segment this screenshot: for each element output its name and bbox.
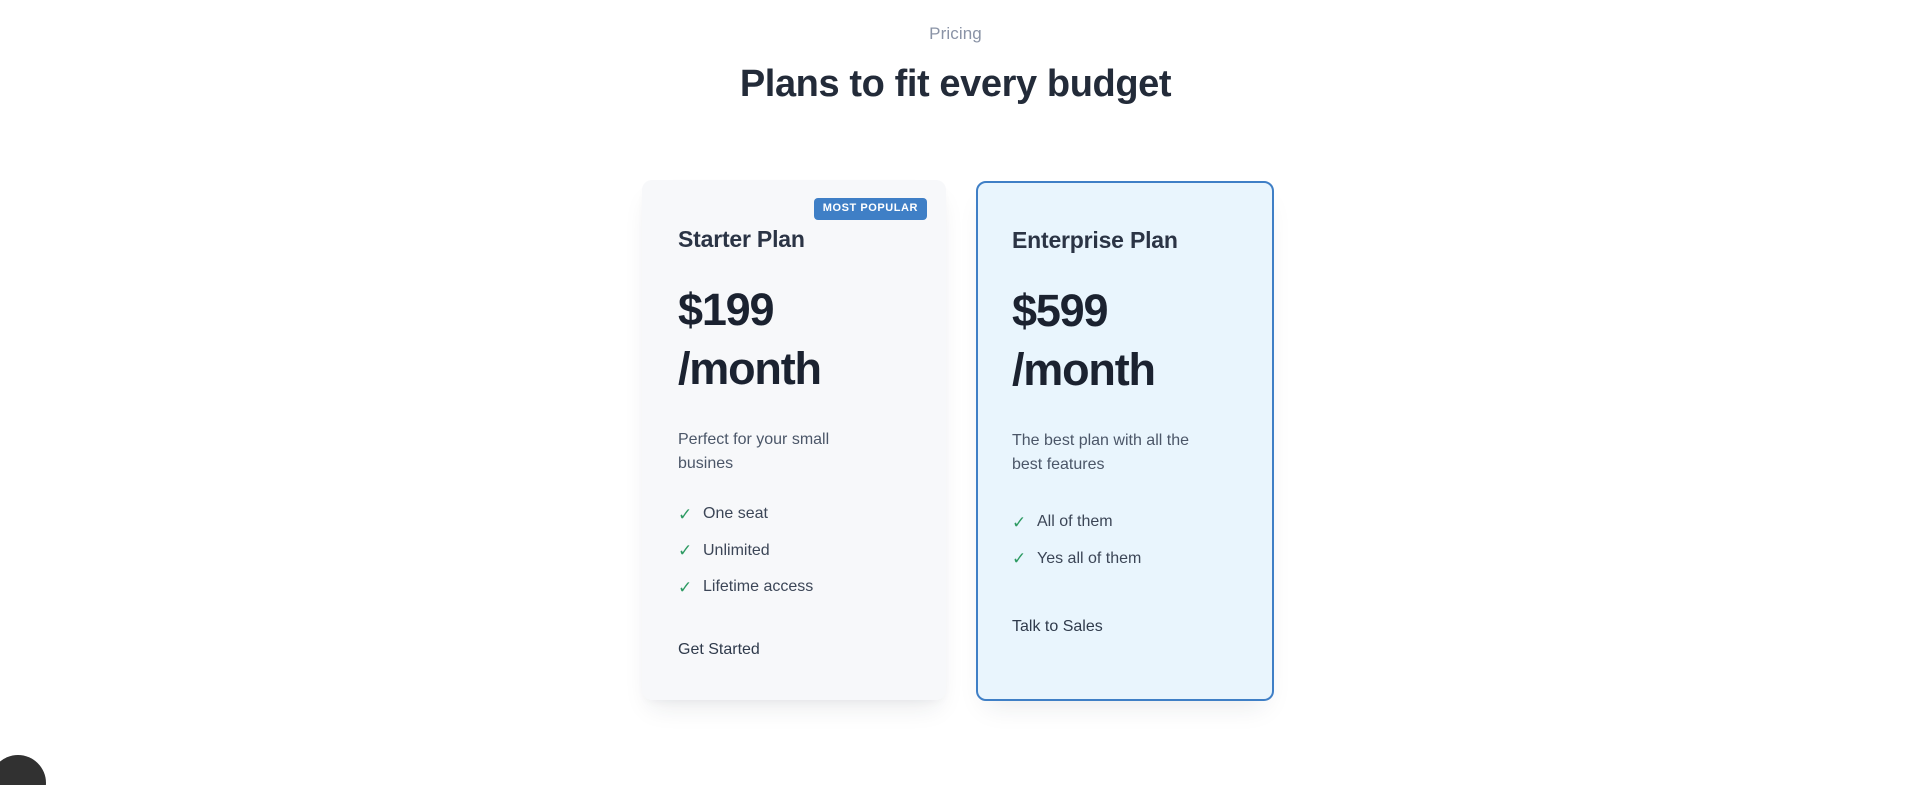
list-item: ✓ Unlimited xyxy=(678,540,910,562)
plan-description-starter: Perfect for your small busines xyxy=(678,428,878,476)
price-block-starter: $199 /month xyxy=(678,280,910,399)
feature-label: All of them xyxy=(1037,511,1113,533)
price-amount-enterprise: $599 xyxy=(1012,281,1238,340)
check-icon: ✓ xyxy=(1012,514,1026,531)
check-icon: ✓ xyxy=(678,542,692,559)
check-icon: ✓ xyxy=(678,506,692,523)
feature-label: Unlimited xyxy=(703,540,770,562)
check-icon: ✓ xyxy=(678,579,692,596)
plan-name-enterprise: Enterprise Plan xyxy=(1012,227,1238,255)
pricing-plans-row: MOST POPULAR Starter Plan $199 /month Pe… xyxy=(642,180,1274,701)
talk-to-sales-button[interactable]: Talk to Sales xyxy=(1012,616,1103,638)
list-item: ✓ One seat xyxy=(678,503,910,525)
feature-label: Yes all of them xyxy=(1037,548,1141,570)
feature-list-starter: ✓ One seat ✓ Unlimited ✓ Lifetime access xyxy=(678,503,910,598)
plan-name-starter: Starter Plan xyxy=(678,226,910,254)
plan-card-enterprise[interactable]: Enterprise Plan $599 /month The best pla… xyxy=(976,181,1274,701)
price-block-enterprise: $599 /month xyxy=(1012,281,1238,400)
price-period-enterprise: /month xyxy=(1012,340,1238,399)
check-icon: ✓ xyxy=(1012,550,1026,567)
get-started-button[interactable]: Get Started xyxy=(678,639,760,661)
feature-label: One seat xyxy=(703,503,768,525)
feature-list-enterprise: ✓ All of them ✓ Yes all of them xyxy=(1012,511,1238,570)
price-period-starter: /month xyxy=(678,339,910,398)
plan-description-enterprise: The best plan with all the best features xyxy=(1012,429,1212,477)
status-badge-most-popular: MOST POPULAR xyxy=(814,198,927,220)
list-item: ✓ All of them xyxy=(1012,511,1238,533)
eyebrow-label: Pricing xyxy=(0,22,1911,46)
cursor-indicator-dot xyxy=(0,755,46,785)
list-item: ✓ Lifetime access xyxy=(678,576,910,598)
page-title: Plans to fit every budget xyxy=(0,62,1911,108)
list-item: ✓ Yes all of them xyxy=(1012,548,1238,570)
feature-label: Lifetime access xyxy=(703,576,813,598)
price-amount-starter: $199 xyxy=(678,280,910,339)
plan-card-starter[interactable]: MOST POPULAR Starter Plan $199 /month Pe… xyxy=(642,180,946,700)
page-header: Pricing Plans to fit every budget xyxy=(0,0,1911,107)
